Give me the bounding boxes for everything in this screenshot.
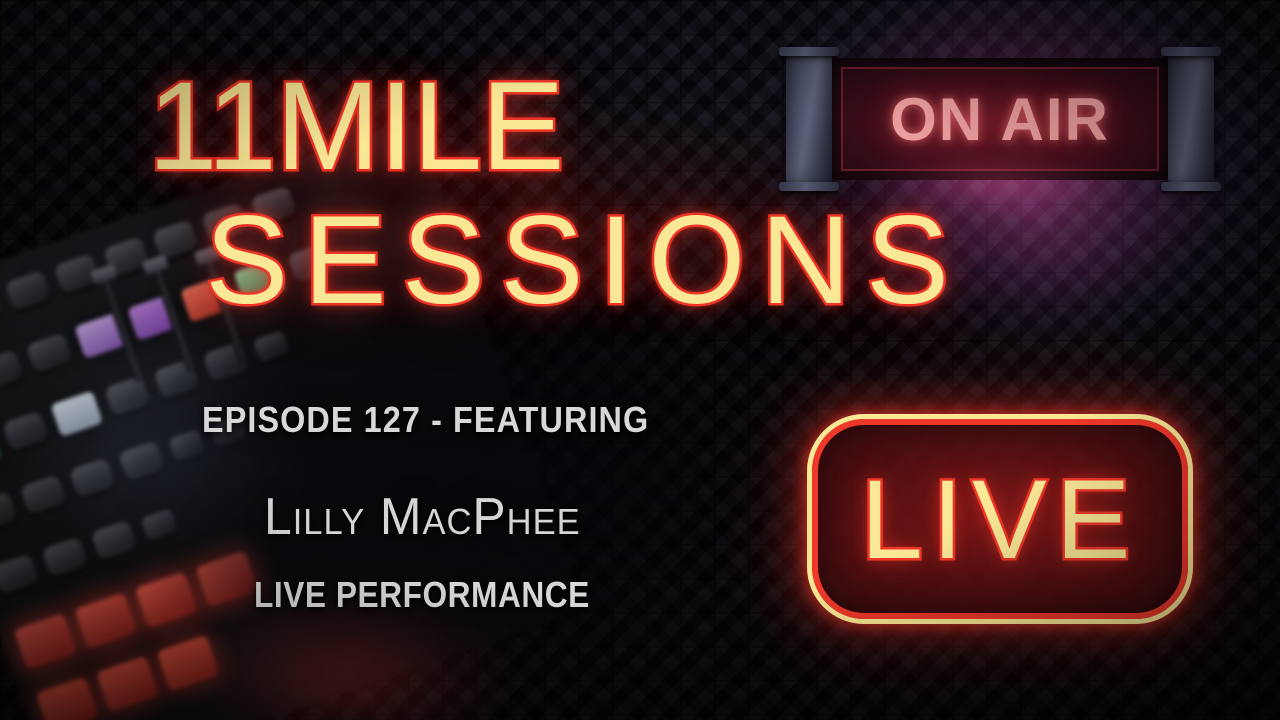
on-air-sign: ON AIR — [786, 28, 1214, 193]
on-air-housing-post-left — [786, 54, 832, 184]
live-badge: LIVE — [812, 419, 1188, 619]
on-air-housing-post-right — [1168, 54, 1214, 184]
on-air-label: ON AIR — [843, 69, 1157, 169]
performance-type-label: LIVE PERFORMANCE — [254, 574, 590, 616]
title-line-two: SESSIONS — [205, 198, 964, 323]
poster-canvas: 11MILE SESSIONS EPISODE 127 - FEATURING … — [0, 0, 1280, 720]
artist-name-label: Lilly MacPhee — [264, 487, 581, 547]
title-line-one: 11MILE — [148, 64, 564, 189]
episode-featuring-label: EPISODE 127 - FEATURING — [202, 399, 649, 441]
live-badge-label: LIVE — [861, 455, 1140, 584]
on-air-panel-frame: ON AIR — [841, 67, 1159, 171]
on-air-panel: ON AIR — [832, 58, 1168, 180]
